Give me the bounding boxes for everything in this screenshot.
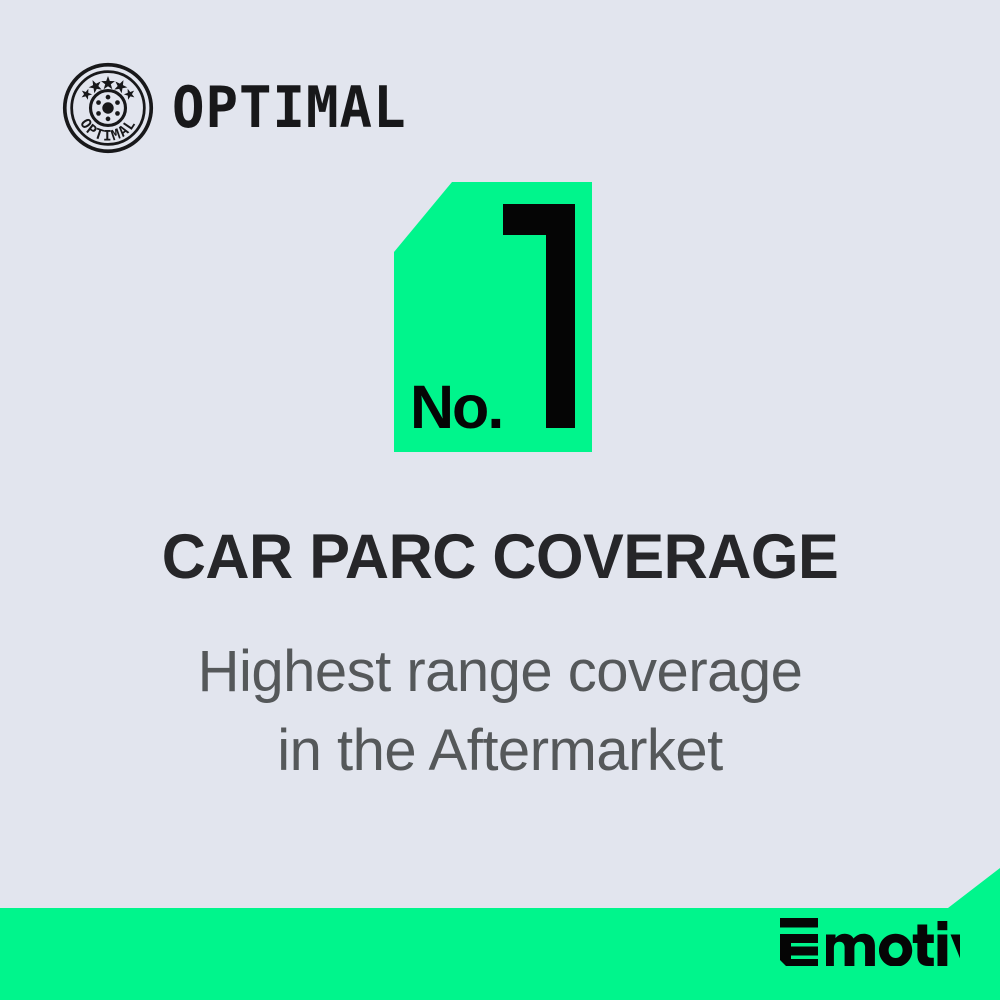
rank-prefix-label: No.: [410, 377, 502, 438]
subtitle-line-1: Highest range coverage: [0, 632, 1000, 711]
numeral-one-icon: [503, 204, 575, 428]
brand-wordmark: OPTIMAL: [172, 79, 407, 136]
page-title: CAR PARC COVERAGE: [15, 524, 985, 591]
subtitle-line-2: in the Aftermarket: [0, 711, 1000, 790]
optimal-badge-icon: OPTIMAL: [62, 62, 154, 154]
emotive-logo: [778, 918, 960, 966]
rank-badge: No.: [394, 182, 592, 452]
brand-logo: OPTIMAL OPTIMAL: [62, 62, 407, 154]
emotive-wordmark-icon: [778, 918, 960, 966]
page-subtitle: Highest range coverage in the Aftermarke…: [0, 632, 1000, 791]
promo-poster: OPTIMAL OPTIMAL No. CAR PARC COVERAGE: [0, 0, 1000, 1000]
